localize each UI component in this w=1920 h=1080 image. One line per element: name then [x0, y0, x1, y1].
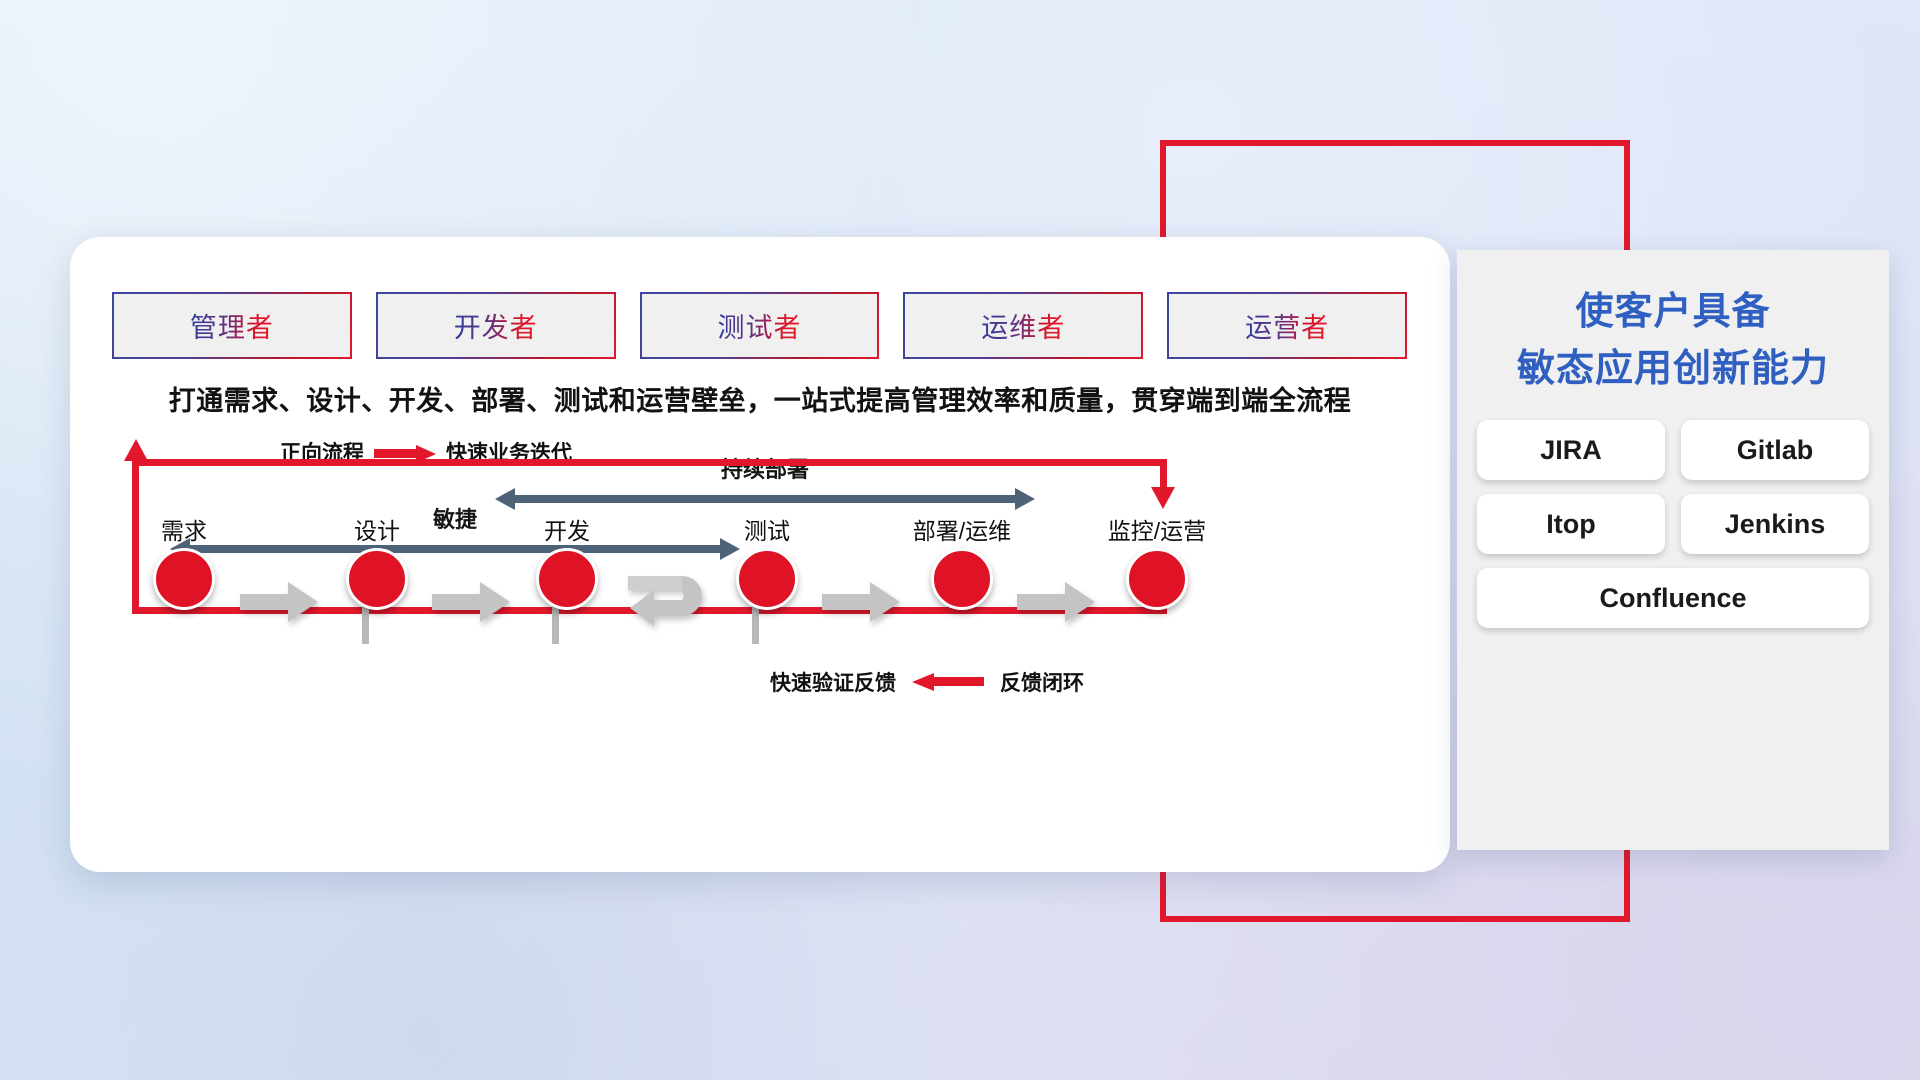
loop-arrowhead-down-icon	[1151, 487, 1175, 509]
pipeline-node-design[interactable]: 设计	[317, 512, 437, 610]
tool-chip-itop[interactable]: Itop	[1477, 494, 1665, 554]
role-chip-manager[interactable]: 管理者	[112, 292, 352, 359]
node-label: 监控/运营	[1097, 512, 1217, 546]
role-chip-developer[interactable]: 开发者	[376, 292, 616, 359]
node-dot-icon	[153, 548, 215, 610]
role-label: 运营者	[1245, 306, 1329, 345]
description-text: 打通需求、设计、开发、部署、测试和运营壁垒，一站式提高管理效率和质量，贯穿端到端…	[70, 379, 1450, 418]
role-chip-row: 管理者 开发者 测试者 运维者 运营者	[112, 292, 1407, 359]
tool-chip-jira[interactable]: JIRA	[1477, 420, 1665, 480]
node-label: 部署/运维	[902, 512, 1022, 546]
role-label: 管理者	[190, 306, 274, 345]
role-label: 测试者	[717, 306, 801, 345]
feedback-source-label: 反馈闭环	[1000, 667, 1084, 697]
gray-arrow-icon	[822, 582, 900, 622]
tool-chip-confluence[interactable]: Confluence	[1477, 568, 1869, 628]
node-label: 需求	[124, 512, 244, 546]
panel-title-line-2: 敏态应用创新能力	[1457, 341, 1889, 398]
panel-title-line-1: 使客户具备	[1457, 284, 1889, 341]
stem-design	[362, 606, 369, 644]
pipeline-node-test[interactable]: 测试	[707, 512, 827, 610]
feedback-loop-legend: 快速验证反馈 反馈闭环	[770, 667, 1084, 697]
red-left-arrow-icon	[912, 673, 984, 691]
node-dot-icon	[1126, 548, 1188, 610]
role-chip-ops[interactable]: 运维者	[903, 292, 1143, 359]
loop-arrowhead-up-icon	[124, 439, 148, 461]
tool-chip-jenkins[interactable]: Jenkins	[1681, 494, 1869, 554]
pipeline-node-requirement[interactable]: 需求	[124, 512, 244, 610]
pipeline-node-deploy-ops[interactable]: 部署/运维	[902, 512, 1022, 610]
node-label: 开发	[507, 512, 627, 546]
capability-panel: 使客户具备 敏态应用创新能力 JIRA Gitlab Itop Jenkins …	[1457, 250, 1889, 850]
role-chip-operator[interactable]: 运营者	[1167, 292, 1407, 359]
loop-top-line	[132, 459, 1167, 466]
pipeline-row: 需求 设计 开发 测试 部署/运维 监控/运营	[112, 512, 1408, 632]
node-dot-icon	[536, 548, 598, 610]
node-dot-icon	[736, 548, 798, 610]
stem-test	[752, 606, 759, 644]
pipeline-node-develop[interactable]: 开发	[507, 512, 627, 610]
role-chip-tester[interactable]: 测试者	[640, 292, 880, 359]
node-dot-icon	[931, 548, 993, 610]
slide-canvas: 管理者 开发者 测试者 运维者 运营者 打通需求、设计、开发、部署、测试和运营壁…	[0, 0, 1920, 1080]
gray-arrow-icon	[1017, 582, 1095, 622]
node-dot-icon	[346, 548, 408, 610]
gray-arrow-icon	[240, 582, 318, 622]
node-label: 测试	[707, 512, 827, 546]
tool-chip-list: JIRA Gitlab Itop Jenkins Confluence	[1457, 420, 1889, 628]
gray-arrow-icon	[432, 582, 510, 622]
stem-develop	[552, 606, 559, 644]
feedback-target-label: 快速验证反馈	[770, 667, 896, 697]
tool-chip-gitlab[interactable]: Gitlab	[1681, 420, 1869, 480]
loop-right-stub	[1160, 459, 1167, 489]
role-label: 开发者	[454, 306, 538, 345]
panel-title: 使客户具备 敏态应用创新能力	[1457, 250, 1889, 398]
node-label: 设计	[317, 512, 437, 546]
bracket-bottom-segment	[1160, 916, 1630, 922]
cycle-arrow-icon	[624, 570, 716, 632]
red-right-arrow-icon	[374, 445, 436, 459]
role-label: 运维者	[981, 306, 1065, 345]
pipeline-node-monitor-operate[interactable]: 监控/运营	[1097, 512, 1217, 610]
bracket-top-segment	[1160, 140, 1630, 146]
main-card: 管理者 开发者 测试者 运维者 运营者 打通需求、设计、开发、部署、测试和运营壁…	[70, 237, 1450, 872]
